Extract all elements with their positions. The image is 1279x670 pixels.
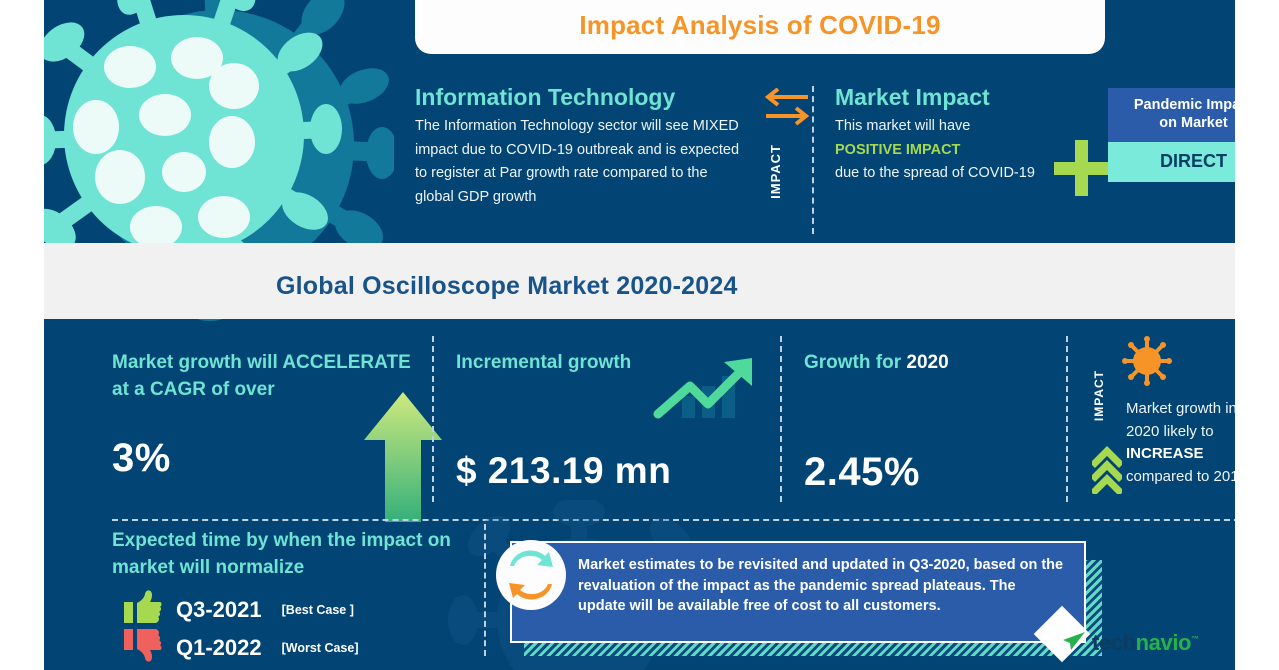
market-impact-body-pre: This market will have: [835, 118, 970, 134]
market-title: Global Oscilloscope Market 2020-2024: [276, 272, 738, 301]
thumbs-up-icon: [124, 590, 162, 629]
kpi-growth-text-white: 2020: [906, 352, 948, 373]
kpi-impact-line1: Market growth in: [1126, 400, 1235, 417]
note-text: Market estimates to be revisited and upd…: [578, 555, 1066, 617]
kpi-incremental-value: $ 213.19 mn: [456, 450, 671, 492]
logo-trademark: ™: [1191, 635, 1199, 644]
market-impact-heading: Market Impact: [835, 84, 1067, 111]
kpi-growth-value: 2.45%: [804, 450, 920, 495]
normalize-row-worst: Q1-2022 [Worst Case]: [124, 628, 359, 667]
it-body: The Information Technology sector will s…: [415, 115, 740, 209]
page-title: Impact Analysis of COVID-19: [415, 10, 1105, 41]
kpi-cagr: Market growth will ACCELERATE at a CAGR …: [112, 350, 412, 404]
plus-icon: [1054, 140, 1110, 196]
normalize-heading: Expected time by when the impact on mark…: [112, 528, 482, 581]
normalize-block: Expected time by when the impact on mark…: [112, 528, 482, 581]
kpi-growth-2020: Growth for 2020 2.45%: [804, 350, 1074, 377]
kpi-row: Market growth will ACCELERATE at a CAGR …: [88, 326, 1235, 512]
pandemic-title-line1: Pandemic Impact: [1134, 97, 1235, 113]
chevrons-up-icon: [1092, 446, 1122, 499]
infographic-canvas: Impact Analysis of COVID-19 Information …: [0, 0, 1279, 670]
it-heading: Information Technology: [415, 84, 740, 111]
paper-plane-icon: [1062, 631, 1086, 656]
market-impact-body-post: due to the spread of COVID-19: [835, 165, 1035, 181]
kpi-impact-text: Market growth in 2020 likely to INCREASE…: [1126, 398, 1235, 488]
kpi-impact-line3: compared to 2019: [1126, 468, 1235, 485]
note-box: Market estimates to be revisited and upd…: [510, 541, 1086, 643]
normalize-case-worst: [Worst Case]: [282, 641, 359, 655]
pandemic-impact-title: Pandemic Impact on Market: [1108, 88, 1235, 142]
impact-vertical-label: IMPACT: [768, 144, 783, 199]
virus-icon: [1122, 336, 1172, 391]
pandemic-title-line2: on Market: [1159, 115, 1228, 131]
header-divider: [812, 86, 814, 234]
kpi-incremental-growth: Incremental growth $ 213.19 mn: [456, 350, 776, 377]
impact-vertical-label-2: IMPACT: [1092, 370, 1106, 421]
logo-text-dark: tech: [1092, 630, 1136, 655]
normalize-quarter-worst: Q1-2022: [176, 635, 262, 661]
kpi-impact-emphasis: INCREASE: [1126, 445, 1204, 462]
pandemic-impact-box: Pandemic Impact on Market DIRECT: [1108, 88, 1235, 182]
thumbs-down-icon: [124, 628, 162, 667]
kpi-impact-line2: 2020 likely to: [1126, 423, 1214, 440]
kpi-growth-text-teal: Growth for: [804, 352, 906, 373]
kpi-cagr-value: 3%: [112, 436, 171, 481]
kpi-divider-3: [1066, 336, 1068, 502]
pandemic-impact-value: DIRECT: [1108, 142, 1235, 182]
normalize-quarter-best: Q3-2021: [176, 597, 262, 623]
kpi-growth-text: Growth for 2020: [804, 350, 1074, 377]
refresh-cycle-icon: [496, 540, 566, 610]
information-technology-block: Information Technology The Information T…: [415, 84, 740, 209]
normalize-case-best: [Best Case ]: [282, 603, 354, 617]
market-impact-body: This market will have POSITIVE IMPACT du…: [835, 115, 1067, 185]
logo-text-green: navio: [1136, 630, 1191, 655]
market-impact-block: Market Impact This market will have POSI…: [835, 84, 1067, 186]
bottom-divider-vertical: [484, 524, 486, 656]
kpi-divider-2: [780, 336, 782, 502]
kpi-divider-1: [432, 336, 434, 502]
trend-up-chart-icon: [652, 356, 760, 429]
header-card: Impact Analysis of COVID-19: [415, 0, 1105, 54]
arrow-up-icon: [364, 392, 442, 527]
main-board: Impact Analysis of COVID-19 Information …: [44, 0, 1235, 670]
impact-column: IMPACT: [754, 84, 816, 234]
two-way-arrows-icon: [762, 88, 812, 133]
logo-text: technavio™: [1092, 630, 1199, 656]
normalize-row-best: Q3-2021 [Best Case ]: [124, 590, 354, 629]
technavio-logo: technavio™: [1062, 630, 1199, 656]
market-impact-highlight: POSITIVE IMPACT: [835, 142, 960, 158]
